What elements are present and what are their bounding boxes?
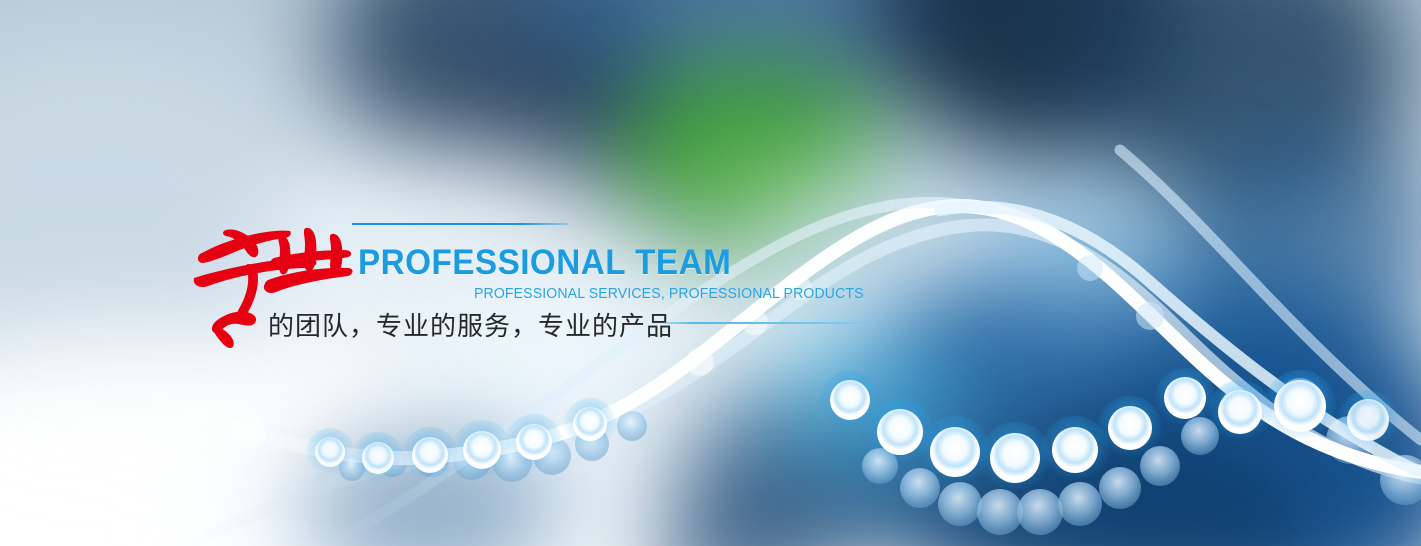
subtitle-english: PROFESSIONAL SERVICES, PROFESSIONAL PROD…: [474, 286, 864, 302]
banner-hero: PROFESSIONAL TEAM PROFESSIONAL SERVICES,…: [0, 0, 1421, 546]
bottom-accent-rule: [664, 322, 876, 324]
subtitle-chinese: 的团队，专业的服务，专业的产品: [268, 306, 673, 343]
page-title: PROFESSIONAL TEAM: [358, 244, 731, 282]
banner-content: PROFESSIONAL TEAM PROFESSIONAL SERVICES,…: [0, 0, 1421, 546]
top-accent-rule: [352, 223, 568, 225]
